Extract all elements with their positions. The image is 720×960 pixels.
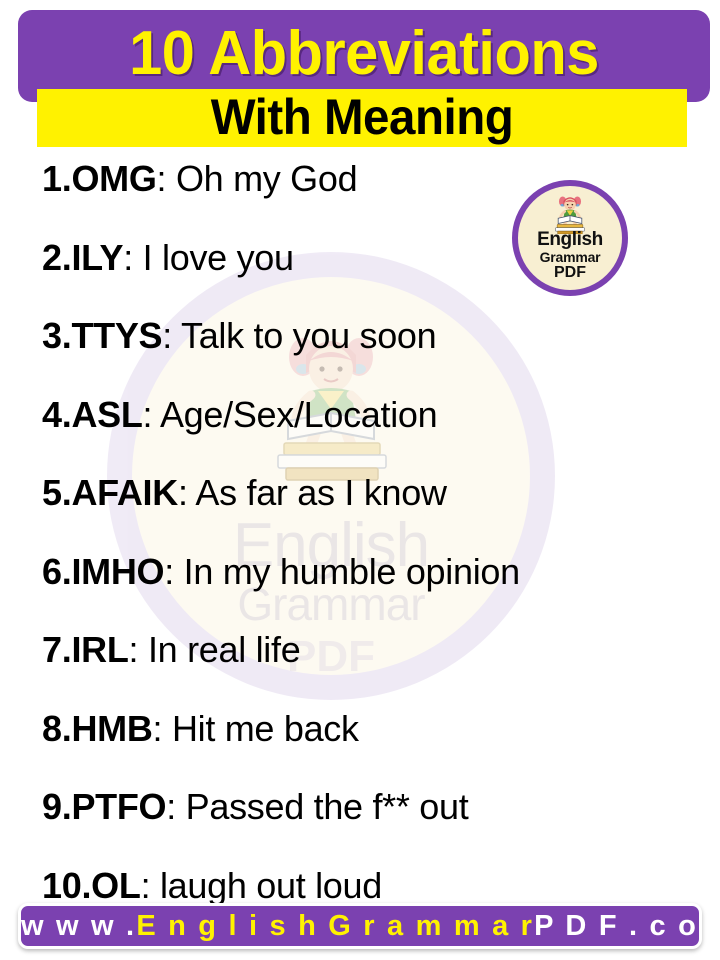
- abbreviation-meaning: laugh out loud: [160, 865, 382, 906]
- list-item: 9.PTFO: Passed the f** out: [42, 784, 710, 830]
- abbreviation-separator: :: [141, 865, 160, 906]
- list-item: 8.HMB: Hit me back: [42, 706, 710, 752]
- abbreviation-key: 2.: [42, 237, 71, 278]
- abbreviation-separator: :: [153, 708, 172, 749]
- website-footer-bar[interactable]: w w w .E n g l i s h G r a m m a rP D F …: [18, 903, 702, 949]
- url-suffix: P D F . c o m: [534, 910, 720, 942]
- logo-line-grammar: Grammar: [518, 250, 622, 264]
- abbreviation-term: TTYS: [71, 315, 162, 356]
- abbreviation-separator: :: [164, 551, 183, 592]
- list-item: 6.IMHO: In my humble opinion: [42, 549, 710, 595]
- abbreviation-key: 6.: [42, 551, 71, 592]
- abbreviation-meaning: Talk to you soon: [181, 315, 436, 356]
- abbreviation-separator: :: [178, 472, 195, 513]
- abbreviation-term: AFAIK: [71, 472, 178, 513]
- abbreviation-key: 7.: [42, 629, 71, 670]
- abbreviation-term: IMHO: [71, 551, 164, 592]
- abbreviation-meaning: Hit me back: [172, 708, 359, 749]
- abbreviation-term: HMB: [71, 708, 152, 749]
- list-item: 4.ASL: Age/Sex/Location: [42, 392, 710, 438]
- abbreviation-separator: :: [143, 394, 160, 435]
- page-title: 10 Abbreviations: [32, 16, 696, 92]
- url-prefix: w w w .: [21, 910, 136, 942]
- english-grammar-pdf-logo[interactable]: English Grammar PDF: [512, 180, 628, 296]
- abbreviation-separator: :: [157, 158, 176, 199]
- abbreviation-separator: :: [129, 629, 148, 670]
- logo-line-english: English: [518, 230, 622, 249]
- abbreviation-term: OMG: [71, 158, 156, 199]
- url-brand: E n g l i s h G r a m m a r: [136, 910, 534, 942]
- abbreviation-key: 8.: [42, 708, 71, 749]
- list-item: 7.IRL: In real life: [42, 627, 710, 673]
- abbreviation-key: 4.: [42, 394, 71, 435]
- abbreviation-meaning: Oh my God: [176, 158, 357, 199]
- abbreviation-meaning: As far as I know: [195, 472, 446, 513]
- abbreviation-term: OL: [91, 865, 140, 906]
- list-item: 5.AFAIK: As far as I know: [42, 470, 710, 516]
- abbreviation-key: 1.: [42, 158, 71, 199]
- logo-wordmark: English Grammar PDF: [518, 230, 622, 281]
- abbreviation-term: ASL: [71, 394, 142, 435]
- subtitle-banner: With Meaning: [37, 89, 687, 147]
- abbreviation-key: 9.: [42, 786, 71, 827]
- abbreviation-meaning: I love you: [143, 237, 294, 278]
- page-subtitle: With Meaning: [53, 89, 671, 147]
- abbreviation-separator: :: [162, 315, 181, 356]
- abbreviation-term: IRL: [71, 629, 128, 670]
- page-header: 10 Abbreviations With Meaning: [0, 0, 720, 152]
- abbreviation-separator: :: [166, 786, 185, 827]
- list-item: 10.OL: laugh out loud: [42, 863, 710, 909]
- abbreviation-meaning: In my humble opinion: [184, 551, 520, 592]
- website-url: w w w .E n g l i s h G r a m m a rP D F …: [21, 906, 699, 946]
- list-item: 3.TTYS: Talk to you soon: [42, 313, 710, 359]
- abbreviation-term: PTFO: [71, 786, 166, 827]
- abbreviation-key: 3.: [42, 315, 71, 356]
- abbreviation-separator: :: [123, 237, 142, 278]
- abbreviation-term: ILY: [71, 237, 123, 278]
- logo-line-pdf: PDF: [518, 265, 622, 281]
- abbreviation-key: 5.: [42, 472, 71, 513]
- abbreviation-key: 10.: [42, 865, 91, 906]
- abbreviation-meaning: In real life: [148, 629, 300, 670]
- abbreviation-meaning: Passed the f** out: [186, 786, 469, 827]
- abbreviation-meaning: Age/Sex/Location: [160, 394, 437, 435]
